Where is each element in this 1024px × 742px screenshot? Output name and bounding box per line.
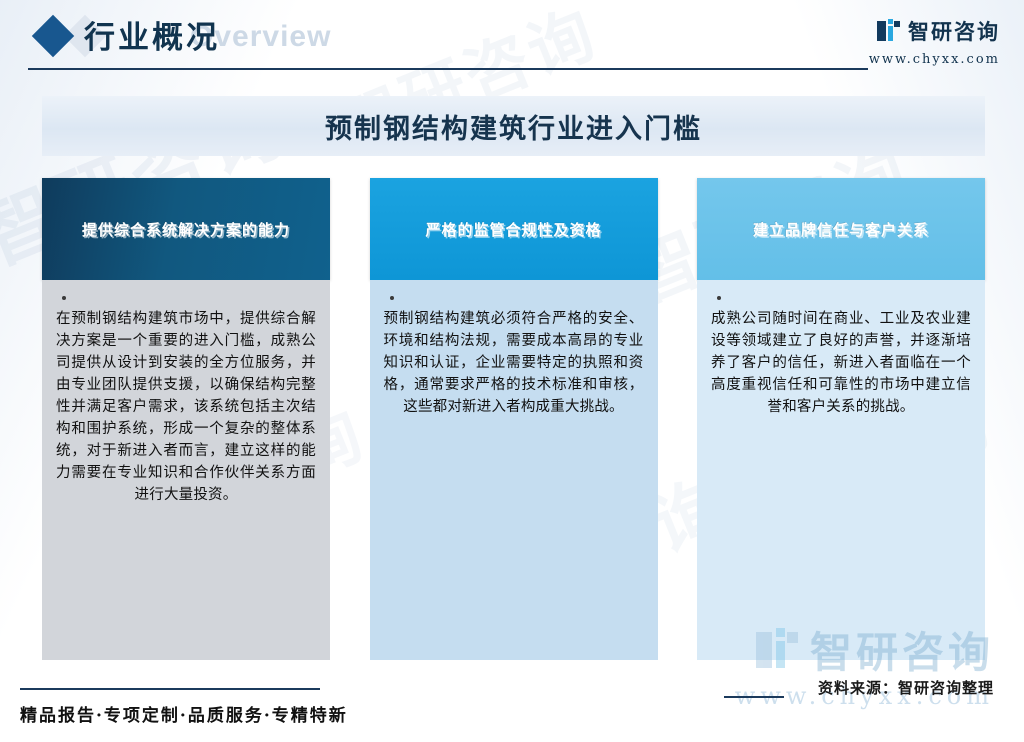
card-body: 成熟公司随时间在商业、工业及农业建设等领域建立了良好的声誉，并逐渐培养了客户的信… [697, 280, 985, 660]
card-text: 预制钢结构建筑必须符合严格的安全、环境和结构法规，需要成本高昂的专业知识和认证，… [384, 308, 644, 418]
brand-block: 智研咨询 www.chyxx.com [869, 16, 1000, 67]
footer-divider-right [724, 696, 784, 698]
bullet-icon [717, 296, 721, 300]
card-text: 在预制钢结构建筑市场中，提供综合解决方案是一个重要的进入门槛，成熟公司提供从设计… [56, 308, 316, 506]
card-heading: 建立品牌信任与客户关系 [745, 219, 937, 240]
bullet-icon [390, 296, 394, 300]
brand-url: www.chyxx.com [869, 52, 1000, 67]
footer-divider-left [20, 688, 320, 690]
brand-name: 智研咨询 [908, 16, 1000, 46]
page-title: 行业概况 [84, 12, 220, 57]
card-body: 在预制钢结构建筑市场中，提供综合解决方案是一个重要的进入门槛，成熟公司提供从设计… [42, 280, 330, 660]
card-header: 提供综合系统解决方案的能力 [42, 178, 330, 280]
header-divider [28, 68, 868, 70]
card-row: 提供综合系统解决方案的能力 在预制钢结构建筑市场中，提供综合解决方案是一个重要的… [42, 178, 985, 660]
chart-title-band: 预制钢结构建筑行业进入门槛 [42, 96, 985, 156]
card-heading: 严格的监管合规性及资格 [417, 219, 609, 240]
card-header: 严格的监管合规性及资格 [370, 178, 658, 280]
page-header: Overview 行业概况 智研咨询 www.chyxx.com [0, 0, 1024, 76]
card-header: 建立品牌信任与客户关系 [697, 178, 985, 280]
card-item: 严格的监管合规性及资格 预制钢结构建筑必须符合严格的安全、环境和结构法规，需要成… [370, 178, 658, 660]
card-heading: 提供综合系统解决方案的能力 [74, 219, 298, 240]
bullet-icon [62, 296, 66, 300]
card-item: 建立品牌信任与客户关系 成熟公司随时间在商业、工业及农业建设等领域建立了良好的声… [697, 178, 985, 660]
slide-canvas: 智研咨询 智研咨询 智研咨询 智研咨询 智研咨询 智研咨询 Overview 行… [0, 0, 1024, 742]
card-item: 提供综合系统解决方案的能力 在预制钢结构建筑市场中，提供综合解决方案是一个重要的… [42, 178, 330, 660]
footer-tagline: 精品报告·专项定制·品质服务·专精特新 [20, 701, 348, 726]
footer-source: 资料来源：智研咨询整理 [818, 677, 994, 698]
card-text: 成熟公司随时间在商业、工业及农业建设等领域建立了良好的声誉，并逐渐培养了客户的信… [711, 308, 971, 418]
card-body: 预制钢结构建筑必须符合严格的安全、环境和结构法规，需要成本高昂的专业知识和认证，… [370, 280, 658, 660]
diamond-front-shape [32, 15, 74, 57]
chyxx-logo-icon [877, 19, 901, 43]
chart-title: 预制钢结构建筑行业进入门槛 [325, 107, 702, 146]
